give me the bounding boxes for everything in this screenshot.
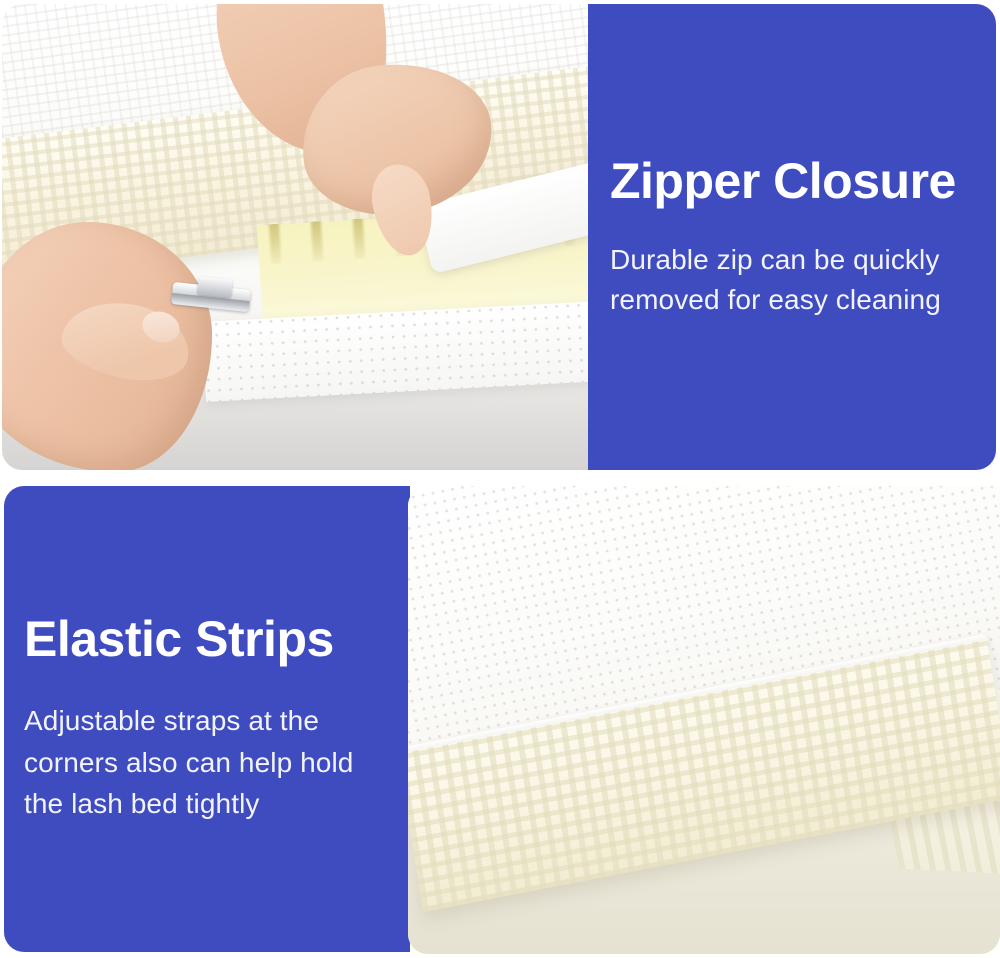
body-line-2: corners also can help hold bbox=[24, 742, 390, 783]
zipper-closure-headline: Zipper Closure bbox=[610, 155, 974, 208]
body-line-2: removed for easy cleaning bbox=[610, 280, 974, 320]
body-line-1: Adjustable straps at the bbox=[24, 700, 390, 741]
zipper-closure-text-panel: Zipper Closure Durable zip can be quickl… bbox=[588, 4, 996, 470]
body-line-3: the lash bed tightly bbox=[24, 783, 390, 824]
elastic-strips-photo bbox=[408, 486, 1000, 954]
zipper-closure-photo bbox=[2, 4, 588, 470]
elastic-strips-body: Adjustable straps at the corners also ca… bbox=[24, 700, 390, 824]
product-infographic: Zipper Closure Durable zip can be quickl… bbox=[0, 0, 1000, 958]
body-line-1: Durable zip can be quickly bbox=[610, 240, 974, 280]
elastic-strips-headline: Elastic Strips bbox=[24, 613, 390, 666]
zipper-closure-body: Durable zip can be quickly removed for e… bbox=[610, 240, 974, 320]
elastic-strips-text-panel: Elastic Strips Adjustable straps at the … bbox=[4, 486, 410, 952]
mattress-base-dotted bbox=[202, 300, 588, 402]
zipper-pull-tab bbox=[197, 276, 233, 297]
